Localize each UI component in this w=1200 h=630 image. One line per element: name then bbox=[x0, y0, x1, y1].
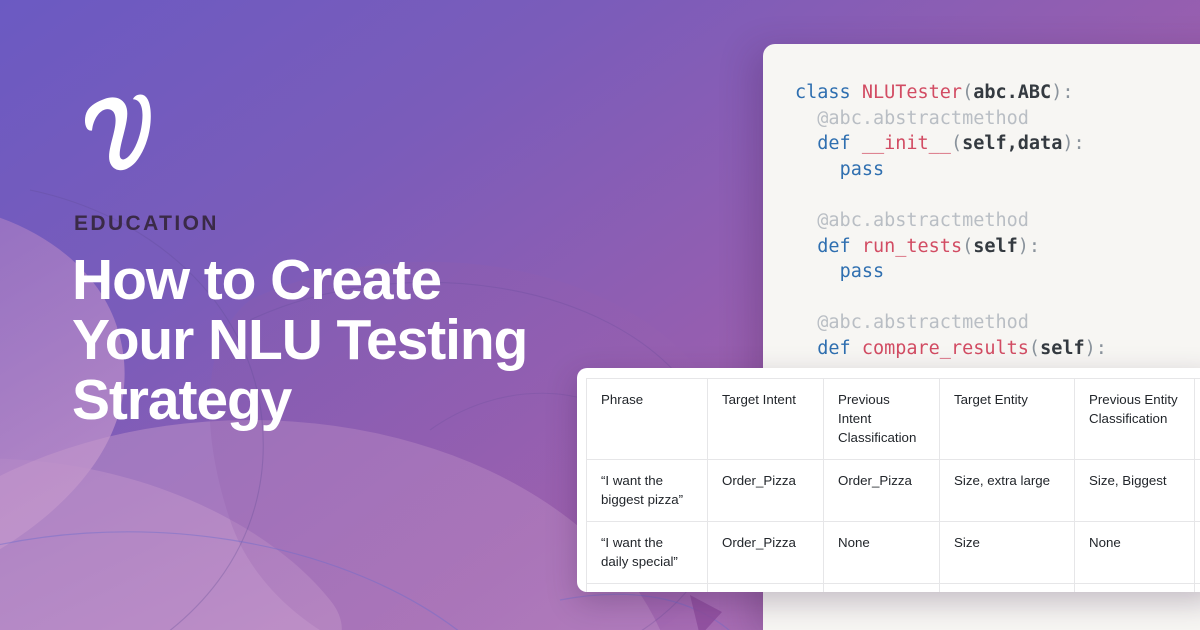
table-row: “I want the biggest pizza” Order_Pizza O… bbox=[587, 460, 1200, 522]
cell-previous-intent: None bbox=[824, 522, 940, 584]
cell-target-intent: Order_Pizza bbox=[708, 522, 824, 584]
accent-triangle bbox=[690, 595, 722, 630]
nlu-test-table-card: Phrase Target Intent Previous Intent Cla… bbox=[577, 368, 1200, 592]
python-code-block: class NLUTester(abc.ABC): @abc.abstractm… bbox=[795, 80, 1107, 362]
cell-target-intent: Help_Me bbox=[708, 584, 824, 593]
hero-text-column: EDUCATION How to Create Your NLU Testing… bbox=[72, 0, 612, 630]
table-body: “I want the biggest pizza” Order_Pizza O… bbox=[587, 460, 1200, 593]
column-header-target-intent: Target Intent bbox=[708, 379, 824, 460]
cell-target-entity: None bbox=[940, 584, 1075, 593]
column-header-previous-intent: Previous Intent Classification bbox=[824, 379, 940, 460]
cell-truncated: B bbox=[1195, 584, 1200, 593]
cell-phrase: “I want the daily special” bbox=[587, 522, 708, 584]
cell-target-entity: Size bbox=[940, 522, 1075, 584]
headline-line-3: Strategy bbox=[72, 368, 291, 432]
headline-line-1: How to Create bbox=[72, 248, 441, 312]
cell-previous-entity: N/A bbox=[1075, 584, 1195, 593]
table-header-row: Phrase Target Intent Previous Intent Cla… bbox=[587, 379, 1200, 460]
headline-line-2: Your NLU Testing bbox=[72, 308, 527, 372]
nlu-test-table: Phrase Target Intent Previous Intent Cla… bbox=[586, 378, 1200, 592]
cell-previous-intent: N/A bbox=[824, 584, 940, 593]
page-title: How to Create Your NLU Testing Strategy bbox=[72, 250, 572, 430]
voiceflow-v-logo bbox=[72, 82, 158, 178]
promo-card-canvas: EDUCATION How to Create Your NLU Testing… bbox=[0, 0, 1200, 630]
table-header: Phrase Target Intent Previous Intent Cla… bbox=[587, 379, 1200, 460]
cell-previous-entity: Size, Biggest bbox=[1075, 460, 1195, 522]
column-header-truncated: D bbox=[1195, 379, 1200, 460]
cell-phrase: “I don’t understand” bbox=[587, 584, 708, 593]
cell-previous-intent: Order_Pizza bbox=[824, 460, 940, 522]
cell-target-entity: Size, extra large bbox=[940, 460, 1075, 522]
column-header-phrase: Phrase bbox=[587, 379, 708, 460]
table-row: “I want the daily special” Order_Pizza N… bbox=[587, 522, 1200, 584]
category-eyebrow: EDUCATION bbox=[74, 212, 219, 236]
cell-phrase: “I want the biggest pizza” bbox=[587, 460, 708, 522]
cell-previous-entity: None bbox=[1075, 522, 1195, 584]
column-header-previous-entity: Previous Entity Classification bbox=[1075, 379, 1195, 460]
cell-target-intent: Order_Pizza bbox=[708, 460, 824, 522]
table-row: “I don’t understand” Help_Me N/A None N/… bbox=[587, 584, 1200, 593]
cell-truncated: U bbox=[1195, 522, 1200, 584]
cell-truncated: U bbox=[1195, 460, 1200, 522]
column-header-target-entity: Target Entity bbox=[940, 379, 1075, 460]
